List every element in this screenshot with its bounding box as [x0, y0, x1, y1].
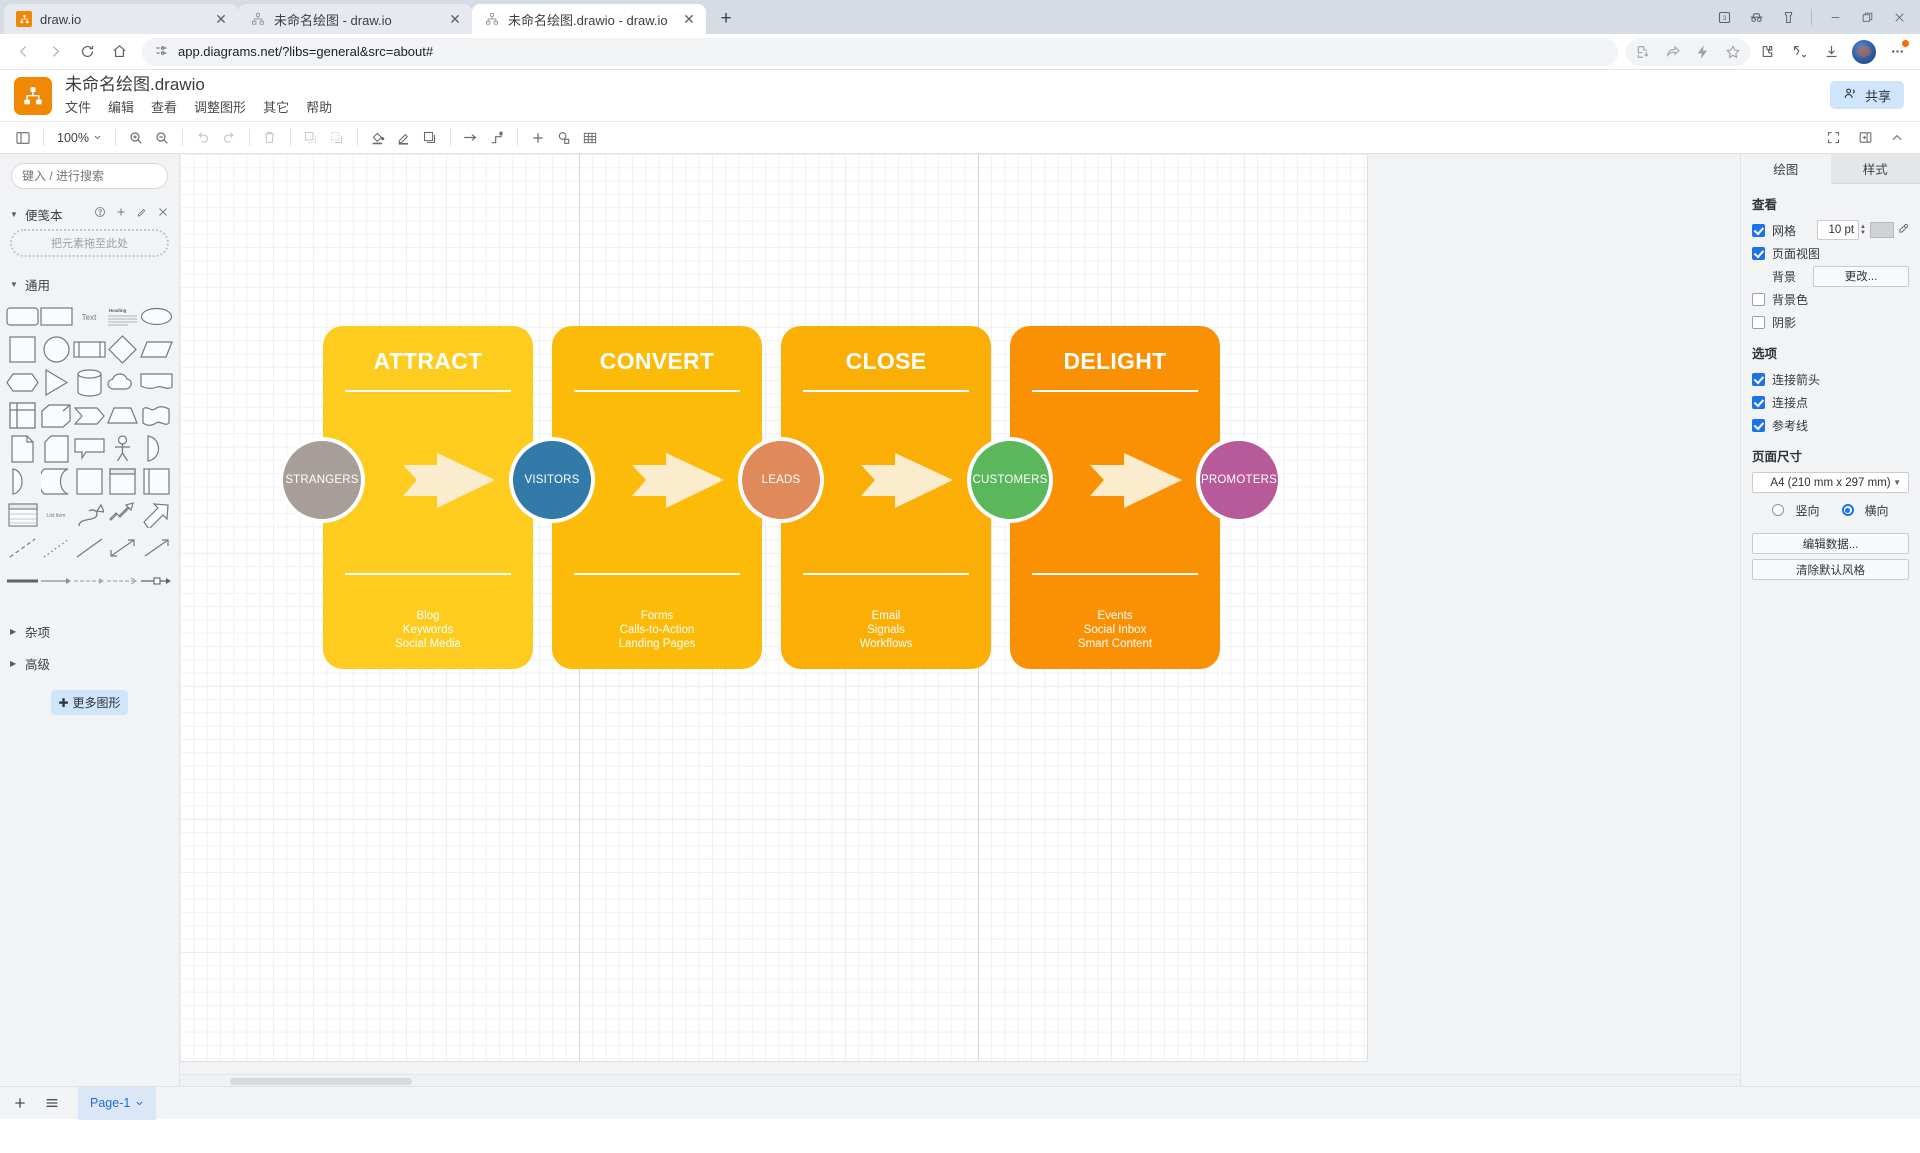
browser-toolbar: app.diagrams.net/?libs=general&src=about… — [0, 34, 1920, 70]
collapse-icon[interactable] — [1884, 125, 1910, 151]
share-icon[interactable] — [1658, 37, 1688, 67]
shape-card[interactable] — [39, 433, 72, 464]
stage-items: Email Signals Workflows — [789, 609, 983, 651]
shape-dashed-arrow[interactable] — [73, 565, 106, 596]
close-icon[interactable]: ✕ — [680, 10, 698, 28]
format-panel-tabs: 绘图 样式 — [1741, 154, 1920, 184]
tab-search-icon[interactable]: 3 — [1709, 2, 1739, 32]
page-tab-label: Page-1 — [90, 1096, 130, 1110]
dropzone-hint: 把元素拖至此处 — [51, 235, 128, 251]
stage-item: Email — [789, 609, 983, 623]
chevron-down-icon — [93, 133, 102, 142]
stage-item: Signals — [789, 623, 983, 637]
stage-items: Blog Keywords Social Media — [331, 609, 525, 651]
shape-delay[interactable] — [6, 466, 39, 497]
section-misc[interactable]: ▶ 杂项 — [0, 620, 179, 642]
browser-tab-strip: draw.io ✕ 未命名绘图 - draw.io ✕ 未命名绘图.drawio… — [0, 0, 1920, 34]
format-panel-icon[interactable] — [1852, 125, 1878, 151]
menu-file[interactable]: 文件 — [65, 97, 91, 116]
minimize-icon[interactable] — [1820, 2, 1850, 32]
flow-arrow-2 — [632, 453, 724, 513]
shape-note[interactable] — [6, 433, 39, 464]
divider — [290, 129, 291, 146]
maximize-icon[interactable] — [1852, 2, 1882, 32]
share-label: 共享 — [1865, 86, 1891, 105]
edit-data-button[interactable]: 编辑数据... — [1752, 533, 1909, 554]
omnibox-actions — [1626, 38, 1750, 66]
svg-text:Text: Text — [82, 313, 97, 322]
close-icon[interactable]: ✕ — [212, 10, 230, 28]
node-label: VISITORS — [524, 474, 579, 486]
shape-dashed-open-arrow[interactable] — [106, 565, 139, 596]
grid-row: 网格 10 pt ▲▼ — [1752, 220, 1909, 240]
grid-color-swatch[interactable] — [1870, 222, 1894, 238]
stage-item: Landing Pages — [560, 637, 754, 651]
shape-double-arrow-line[interactable] — [106, 532, 139, 563]
stage-title: ATTRACT — [323, 348, 533, 375]
shape-bidirectional-arrow[interactable] — [106, 499, 139, 530]
stage-item: Blog — [331, 609, 525, 623]
add-icon[interactable] — [115, 205, 127, 223]
caret-down-icon: ▼ — [10, 210, 19, 219]
add-page-button[interactable] — [12, 1095, 28, 1111]
stage-title: CONVERT — [552, 348, 762, 375]
insert-shape-icon[interactable] — [551, 125, 577, 151]
shape-display[interactable] — [39, 466, 72, 497]
shape-table[interactable] — [6, 499, 39, 530]
divider — [182, 129, 183, 146]
shape-internal-storage[interactable] — [6, 400, 39, 431]
document-title[interactable]: 未命名绘图.drawio — [65, 75, 332, 95]
background-label: 背景 — [1772, 268, 1796, 285]
connection-arrows-row: 连接箭头 — [1752, 369, 1909, 389]
connection-points-row: 连接点 — [1752, 392, 1909, 412]
pages-menu-button[interactable] — [44, 1095, 60, 1111]
section-label: 高级 — [25, 654, 169, 673]
shape-or[interactable] — [140, 433, 173, 464]
update-badge — [1902, 40, 1909, 47]
to-front-icon[interactable] — [298, 125, 324, 151]
background-change-button[interactable]: 更改... — [1813, 266, 1909, 287]
page-view-checkbox[interactable] — [1752, 247, 1765, 260]
stage-items: Forms Calls-to-Action Landing Pages — [560, 609, 754, 651]
grid-label: 网格 — [1772, 222, 1796, 239]
site-info-icon[interactable] — [154, 43, 169, 61]
divider — [43, 129, 44, 146]
portrait-radio[interactable] — [1772, 504, 1784, 516]
node-promoters[interactable]: PROMOTERS — [1196, 437, 1282, 523]
shape-arrow-with-box[interactable] — [140, 565, 173, 596]
grid-size-stepper[interactable]: ▲▼ — [1860, 224, 1866, 236]
connection-arrow-icon[interactable] — [458, 125, 484, 151]
format-panel: 绘图 样式 查看 网格 10 pt ▲▼ 页面视图 — [1740, 154, 1920, 1086]
more-shapes-label: 更多图形 — [73, 694, 121, 711]
divider — [803, 573, 969, 575]
shape-arrow-line[interactable] — [140, 532, 173, 563]
background-color-label: 背景色 — [1772, 291, 1808, 308]
shape-step[interactable] — [73, 400, 106, 431]
stage-item: Events — [1018, 609, 1212, 623]
to-back-icon[interactable] — [324, 125, 350, 151]
svg-text:List Item: List Item — [46, 513, 65, 519]
browser-tab-1[interactable]: 未命名绘图 - draw.io ✕ — [238, 4, 472, 34]
caret-right-icon: ▶ — [10, 659, 19, 668]
svg-text:3: 3 — [1722, 15, 1726, 22]
search-input[interactable] — [22, 169, 177, 183]
node-label: LEADS — [762, 474, 801, 486]
connection-points-label: 连接点 — [1772, 394, 1808, 411]
line-color-icon[interactable] — [391, 125, 417, 151]
stage-title: DELIGHT — [1010, 348, 1220, 375]
options-section: 选项 连接箭头 连接点 参考线 — [1741, 335, 1920, 435]
zoom-in-icon[interactable] — [123, 125, 149, 151]
divider — [115, 129, 116, 146]
section-advanced[interactable]: ▶ 高级 — [0, 652, 179, 674]
shape-panel: ▼ 便笺本 把元素拖至此处 ▼ 通用 Text Heading — [0, 154, 180, 1086]
drawio-logo — [14, 77, 52, 115]
canvas[interactable]: ATTRACT Blog Keywords Social Media CONVE… — [180, 154, 1740, 1086]
background-row: 背景 更改... — [1752, 266, 1909, 286]
paper-size-select[interactable]: A4 (210 mm x 297 mm) ▼ — [1752, 472, 1909, 493]
shape-link-arrow[interactable] — [39, 565, 72, 596]
bookmark-star-icon[interactable] — [1718, 37, 1748, 67]
shape-rect[interactable] — [39, 301, 72, 332]
background-color-checkbox[interactable] — [1752, 293, 1765, 306]
zoom-out-icon[interactable] — [149, 125, 175, 151]
shape-text[interactable]: Text — [73, 301, 106, 332]
insert-icon[interactable] — [525, 125, 551, 151]
section-label: 杂项 — [25, 622, 169, 641]
shape-hexagon[interactable] — [6, 367, 39, 398]
drawio-grey-icon — [250, 11, 266, 27]
zoom-level: 100% — [57, 131, 89, 145]
shape-triangle[interactable] — [39, 367, 72, 398]
more-shapes-button[interactable]: ✚ 更多图形 — [51, 690, 128, 715]
shape-dotted-line[interactable] — [39, 532, 72, 563]
stage-title: CLOSE — [781, 348, 991, 375]
back-icon[interactable] — [8, 37, 38, 67]
divider — [357, 129, 358, 146]
node-label: STRANGERS — [285, 474, 358, 486]
connection-points-checkbox[interactable] — [1752, 396, 1765, 409]
stage-item: Social Media — [331, 637, 525, 651]
share-button[interactable]: 共享 — [1830, 81, 1904, 109]
share-people-icon — [1843, 86, 1858, 104]
browser-tab-title: 未命名绘图.drawio - draw.io — [508, 10, 672, 29]
flow-arrow-3 — [861, 453, 953, 513]
section-scratchpad[interactable]: ▼ 便笺本 — [0, 203, 179, 225]
menu-edit[interactable]: 编辑 — [108, 97, 134, 116]
fill-color-icon[interactable] — [365, 125, 391, 151]
flow-arrow-1 — [403, 453, 495, 513]
connection-arrows-checkbox[interactable] — [1752, 373, 1765, 386]
divider — [1811, 9, 1812, 25]
browser-tab-title: 未命名绘图 - draw.io — [274, 10, 438, 29]
background-color-row: 背景色 — [1752, 289, 1909, 309]
canvas-page[interactable]: ATTRACT Blog Keywords Social Media CONVE… — [180, 154, 1367, 1061]
stage-item: Calls-to-Action — [560, 623, 754, 637]
plus-icon: ✚ — [58, 696, 68, 710]
shape-cube[interactable] — [39, 400, 72, 431]
editor-toolbar: 100% — [0, 122, 1920, 154]
close-icon[interactable]: ✕ — [446, 10, 464, 28]
shape-titled-box[interactable] — [106, 466, 139, 497]
window-controls: 3 — [1709, 0, 1920, 34]
divider — [517, 129, 518, 146]
view-section: 查看 网格 10 pt ▲▼ 页面视图 背景 更改... — [1741, 184, 1920, 332]
shadow-label: 阴影 — [1772, 314, 1796, 331]
divider — [574, 573, 740, 575]
node-leads[interactable]: LEADS — [738, 437, 824, 523]
stage-item: Keywords — [331, 623, 525, 637]
undo-icon[interactable] — [190, 125, 216, 151]
delete-icon[interactable] — [257, 125, 283, 151]
close-icon[interactable] — [157, 205, 169, 223]
divider — [1032, 390, 1198, 392]
svg-text:Heading: Heading — [109, 308, 127, 313]
app-header: 未命名绘图.drawio 文件 编辑 查看 调整图形 其它 帮助 共享 — [0, 70, 1920, 122]
chrome-menu-icon[interactable] — [1882, 37, 1912, 67]
shape-vertical-bar-box[interactable] — [140, 466, 173, 497]
shape-dashed-line[interactable] — [6, 532, 39, 563]
help-icon[interactable] — [94, 205, 106, 223]
shape-square[interactable] — [6, 334, 39, 365]
shape-document[interactable] — [140, 367, 173, 398]
shape-circle[interactable] — [39, 334, 72, 365]
node-label: PROMOTERS — [1201, 474, 1277, 486]
shape-ellipse[interactable] — [140, 301, 173, 332]
guides-label: 参考线 — [1772, 417, 1808, 434]
shape-grid-general: Text Heading — [0, 299, 179, 604]
home-icon[interactable] — [104, 37, 134, 67]
shape-solid-line[interactable] — [73, 532, 106, 563]
node-visitors[interactable]: VISITORS — [509, 437, 595, 523]
drawio-grey-icon — [484, 11, 500, 27]
connection-arrows-label: 连接箭头 — [1772, 371, 1820, 388]
clear-default-style-button[interactable]: 清除默认风格 — [1752, 559, 1909, 580]
split-screen-icon[interactable] — [1773, 2, 1803, 32]
menu-view[interactable]: 查看 — [151, 97, 177, 116]
grid-checkbox[interactable] — [1752, 224, 1765, 237]
funnel-diagram[interactable]: ATTRACT Blog Keywords Social Media CONVE… — [323, 326, 1231, 669]
url-text: app.diagrams.net/?libs=general&src=about… — [178, 44, 433, 59]
shape-process[interactable] — [73, 334, 106, 365]
grid-size-input[interactable]: 10 pt — [1817, 220, 1859, 240]
stage-item: Workflows — [789, 637, 983, 651]
shape-curved-arrow[interactable] — [73, 499, 106, 530]
new-tab-button[interactable]: + — [712, 4, 740, 32]
history-icon[interactable] — [1784, 37, 1814, 67]
performance-icon[interactable] — [1688, 37, 1718, 67]
menu-extras[interactable]: 其它 — [263, 97, 289, 116]
landscape-label: 横向 — [1865, 502, 1889, 519]
redo-icon[interactable] — [216, 125, 242, 151]
shape-block-arrow[interactable] — [140, 499, 173, 530]
reload-icon[interactable] — [72, 37, 102, 67]
browser-tab-2[interactable]: 未命名绘图.drawio - draw.io ✕ — [472, 4, 706, 34]
tab-diagram[interactable]: 绘图 — [1741, 154, 1831, 184]
stage-item: Smart Content — [1018, 637, 1212, 651]
shape-thick-line[interactable] — [6, 565, 39, 596]
insert-table-icon[interactable] — [577, 125, 603, 151]
section-label: 便笺本 — [25, 205, 88, 224]
menu-arrange[interactable]: 调整图形 — [194, 97, 246, 116]
divider — [345, 390, 511, 392]
shape-tape[interactable] — [140, 400, 173, 431]
shadow-row: 阴影 — [1752, 312, 1909, 332]
forward-icon[interactable] — [40, 37, 70, 67]
divider — [1032, 573, 1198, 575]
eyedropper-icon[interactable] — [1898, 221, 1909, 239]
workspace: ▼ 便笺本 把元素拖至此处 ▼ 通用 Text Heading — [0, 154, 1920, 1086]
zoom-selector[interactable]: 100% — [51, 126, 108, 150]
view-heading: 查看 — [1752, 194, 1909, 213]
browser-tab-title: draw.io — [40, 12, 204, 27]
node-customers[interactable]: CUSTOMERS — [967, 437, 1053, 523]
app-menubar: 文件 编辑 查看 调整图形 其它 帮助 — [65, 97, 332, 116]
paper-size-value: A4 (210 mm x 297 mm) — [1770, 477, 1890, 489]
address-bar[interactable]: app.diagrams.net/?libs=general&src=about… — [142, 38, 1618, 66]
node-label: CUSTOMERS — [972, 474, 1047, 486]
downloads-icon[interactable] — [1816, 37, 1846, 67]
browser-tab-0[interactable]: draw.io ✕ — [4, 4, 238, 34]
close-icon[interactable] — [1884, 2, 1914, 32]
incognito-icon[interactable] — [1741, 2, 1771, 32]
scratchpad-dropzone[interactable]: 把元素拖至此处 — [10, 229, 169, 257]
shape-cloud[interactable] — [106, 367, 139, 398]
chevron-down-icon — [135, 1099, 144, 1108]
extensions-icon[interactable] — [1752, 37, 1782, 67]
page-view-label: 页面视图 — [1772, 245, 1820, 262]
shape-square2[interactable] — [73, 466, 106, 497]
menu-help[interactable]: 帮助 — [306, 97, 332, 116]
page-tab-page-1[interactable]: Page-1 — [78, 1087, 156, 1120]
shape-diamond[interactable] — [106, 334, 139, 365]
flow-arrow-4 — [1090, 453, 1182, 513]
guides-row: 参考线 — [1752, 415, 1909, 435]
paper-size-section: 页面尺寸 A4 (210 mm x 297 mm) ▼ 竖向 横向 编辑数据..… — [1741, 438, 1920, 580]
divider — [345, 573, 511, 575]
portrait-label: 竖向 — [1795, 502, 1819, 519]
toggle-sidebar-icon[interactable] — [10, 125, 36, 151]
divider — [803, 390, 969, 392]
scrollbar-thumb[interactable] — [230, 1078, 412, 1085]
stage-items: Events Social Inbox Smart Content — [1018, 609, 1212, 651]
options-heading: 选项 — [1752, 343, 1909, 362]
chevron-down-icon: ▼ — [1893, 478, 1901, 487]
node-strangers[interactable]: STRANGERS — [279, 437, 365, 523]
caret-down-icon: ▼ — [10, 280, 19, 289]
shape-search[interactable] — [11, 163, 168, 189]
shape-list-item[interactable]: List Item — [39, 499, 72, 530]
shadow-checkbox[interactable] — [1752, 316, 1765, 329]
edit-icon[interactable] — [136, 205, 148, 223]
stage-item: Social Inbox — [1018, 623, 1212, 637]
divider — [574, 390, 740, 392]
divider — [450, 129, 451, 146]
footer: Page-1 — [0, 1086, 1920, 1119]
shape-callout[interactable] — [73, 433, 106, 464]
page-view-row: 页面视图 — [1752, 243, 1909, 263]
editor-toolbar-right — [1820, 125, 1910, 151]
orientation-row: 竖向 横向 — [1752, 500, 1909, 520]
shadow-icon[interactable] — [417, 125, 443, 151]
section-label: 通用 — [25, 275, 169, 294]
drawio-icon — [16, 11, 32, 27]
guides-checkbox[interactable] — [1752, 419, 1765, 432]
divider — [249, 129, 250, 146]
shape-textbox[interactable]: Heading — [106, 301, 139, 332]
tab-style[interactable]: 样式 — [1831, 154, 1920, 184]
section-general[interactable]: ▼ 通用 — [0, 273, 179, 295]
shape-parallelogram[interactable] — [140, 334, 173, 365]
waypoints-icon[interactable] — [484, 125, 510, 151]
fullscreen-icon[interactable] — [1820, 125, 1846, 151]
shape-trapezoid[interactable] — [106, 400, 139, 431]
canvas-hscrollbar[interactable] — [180, 1074, 1740, 1086]
landscape-radio[interactable] — [1842, 504, 1854, 516]
stage-item: Forms — [560, 609, 754, 623]
install-icon[interactable] — [1628, 37, 1658, 67]
shape-cylinder[interactable] — [73, 367, 106, 398]
shape-actor[interactable] — [106, 433, 139, 464]
caret-right-icon: ▶ — [10, 627, 19, 636]
shape-rounded-rect[interactable] — [6, 301, 39, 332]
profile-avatar[interactable] — [1852, 40, 1876, 64]
paper-size-heading: 页面尺寸 — [1752, 446, 1909, 465]
